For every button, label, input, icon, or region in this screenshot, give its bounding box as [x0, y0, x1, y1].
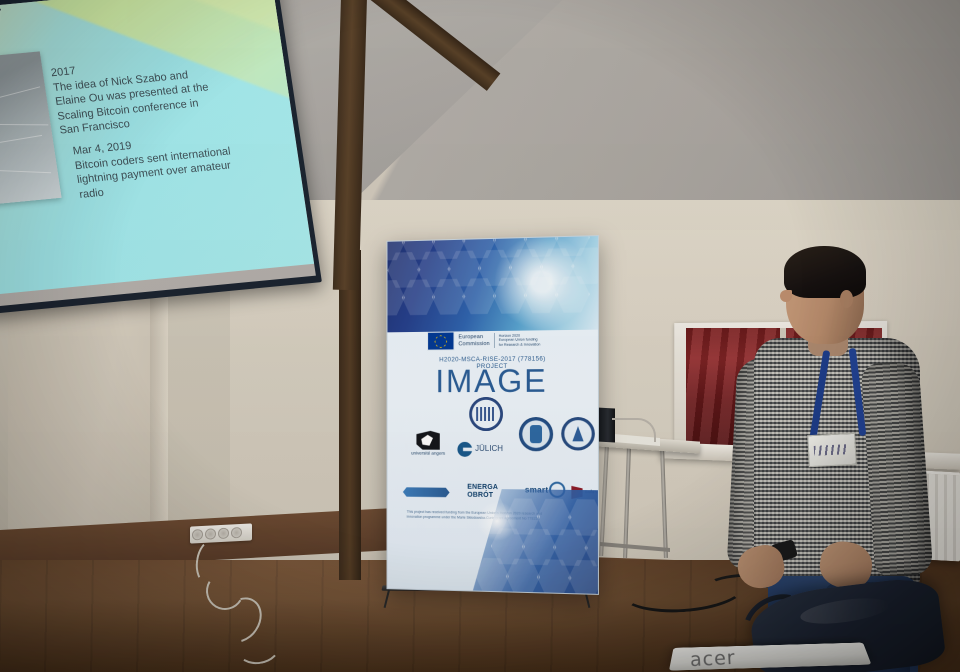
image-project-rollup-banner: European Commission Horizon 2020 Europea…: [387, 235, 599, 595]
wall-recess: [8, 290, 158, 560]
hexagon-pattern-top: [387, 235, 599, 332]
universite-angers-logo: université angers: [409, 431, 448, 465]
screen-surface: urrency over ignal radio io Communicatio…: [0, 0, 316, 307]
nose: [780, 290, 792, 302]
military-university-seal-logo: [469, 397, 503, 431]
name-badge: [807, 433, 857, 467]
gdansk-tech-logo: [519, 417, 553, 451]
banner-light-glow: [477, 501, 517, 542]
equipment-cable: [612, 418, 656, 442]
universite-angers-label: université angers: [409, 451, 448, 456]
thumbnail-caption-2: Resilience: [0, 76, 39, 102]
acer-brand-label: acer: [689, 647, 736, 671]
eu-commission-label: European Commission: [458, 334, 489, 347]
divider: [494, 333, 495, 348]
socket-outlet[interactable]: [231, 527, 242, 539]
socket-outlet[interactable]: [218, 528, 229, 540]
julich-label: JÜLICH: [475, 444, 503, 453]
roof-beam-vertical-lower: [339, 250, 361, 580]
slide-paragraph-1: 2017 The idea of Nick Szabo and Elaine O…: [50, 51, 220, 138]
photo-scene: urrency over ignal radio io Communicatio…: [0, 0, 960, 672]
hair: [784, 246, 866, 298]
wall-recess-edge: [150, 285, 168, 560]
ear: [840, 290, 853, 308]
julich-logo: JÜLICH: [457, 439, 512, 465]
kapsch-logo: [403, 484, 450, 500]
socket-outlet[interactable]: [192, 529, 203, 541]
presentation-slide: urrency over ignal radio io Communicatio…: [0, 0, 314, 302]
eu-funding-note: Horizon 2020 European Union funding for …: [499, 333, 555, 347]
thumbnail-authors: m, Brian m, Dave news: [0, 153, 34, 185]
socket-outlet[interactable]: [205, 528, 216, 540]
slide-paragraph-2: Mar 4, 2019 Bitcoin coders sent internat…: [72, 129, 240, 202]
angers-mark-icon: [416, 431, 439, 450]
eu-flag-icon: [427, 331, 454, 350]
project-title: IMAGE: [387, 362, 597, 400]
warsaw-tech-logo: [561, 417, 595, 451]
projection-screen: urrency over ignal radio io Communicatio…: [0, 0, 323, 323]
wall-power-sockets[interactable]: [190, 523, 252, 543]
eu-commission-logo: European Commission Horizon 2020 Europea…: [427, 330, 558, 351]
julich-mark-icon: [457, 442, 472, 457]
